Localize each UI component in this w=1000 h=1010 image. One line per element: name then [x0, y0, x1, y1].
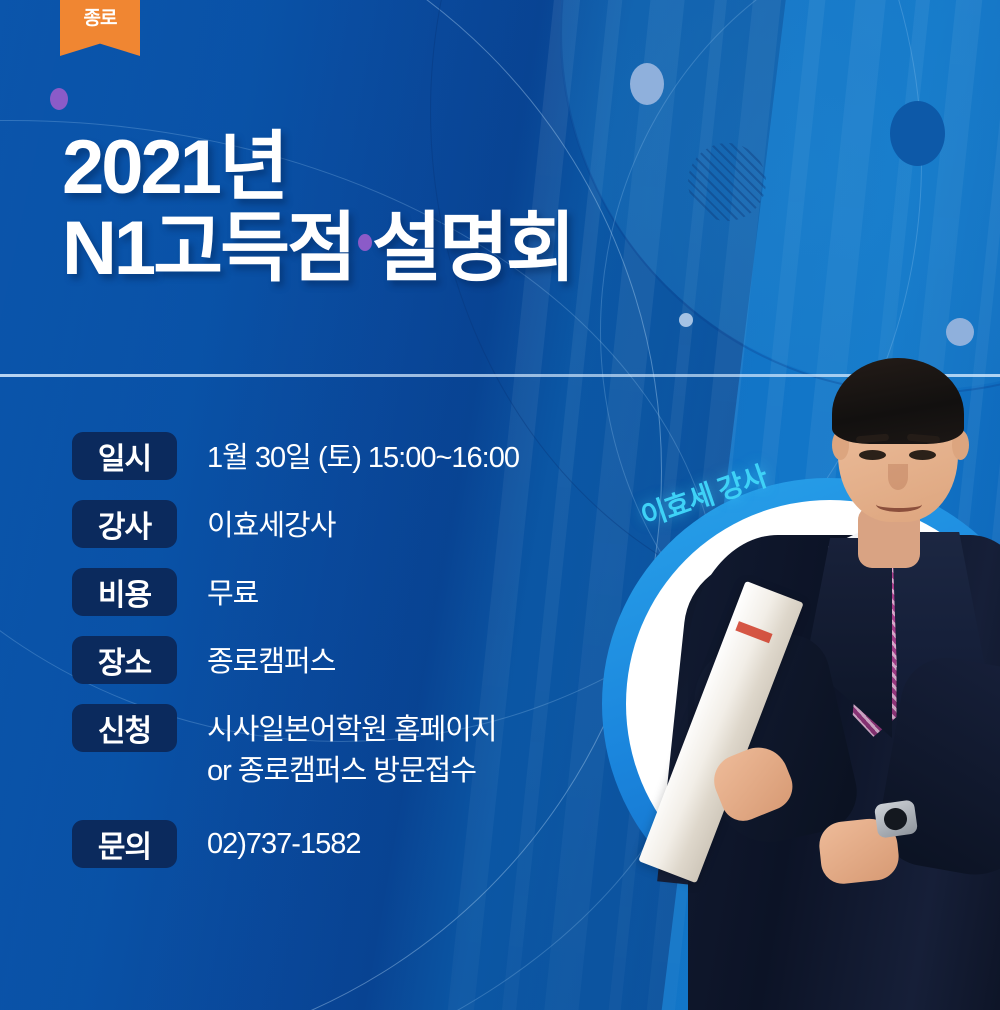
info-value-location: 종로캠퍼스 [207, 636, 335, 683]
info-label-contact: 문의 [72, 820, 177, 868]
info-label-apply: 신청 [72, 704, 177, 752]
info-label-instructor: 강사 [72, 500, 177, 548]
info-label-fee: 비용 [72, 568, 177, 616]
info-value-apply: 시사일본어학원 홈페이지 or 종로캠퍼스 방문접수 [207, 704, 497, 792]
light-dot-upper [630, 63, 664, 105]
info-row-location: 장소 종로캠퍼스 [72, 636, 632, 684]
instructor-photo [680, 310, 1000, 1010]
info-row-contact: 문의 02)737-1582 [72, 818, 632, 868]
campus-ribbon-label: 종로 [84, 9, 117, 28]
info-value-fee: 무료 [207, 568, 258, 615]
info-row-instructor: 강사 이효세강사 [72, 500, 632, 548]
promo-poster: 종로 2021년 N1고득점 설명회 [0, 0, 1000, 1010]
striped-circle-decor [688, 143, 766, 221]
info-value-datetime: 1월 30일 (토) 15:00~16:00 [207, 432, 519, 479]
purple-dot-left [50, 88, 68, 110]
wristwatch [874, 799, 918, 838]
info-value-instructor: 이효세강사 [207, 500, 335, 547]
info-label-location: 장소 [72, 636, 177, 684]
nose [888, 464, 908, 490]
event-info-list: 일시 1월 30일 (토) 15:00~16:00 강사 이효세강사 비용 무료… [72, 432, 632, 888]
info-row-datetime: 일시 1월 30일 (토) 15:00~16:00 [72, 432, 632, 480]
info-row-apply: 신청 시사일본어학원 홈페이지 or 종로캠퍼스 방문접수 [72, 704, 632, 792]
eye-right [909, 450, 936, 460]
info-label-datetime: 일시 [72, 432, 177, 480]
page-title: 2021년 N1고득점 설명회 [62, 128, 573, 289]
navy-circle-right [890, 101, 945, 166]
eye-left [859, 450, 886, 460]
info-row-fee: 비용 무료 [72, 568, 632, 616]
mouth [876, 497, 922, 512]
hair [832, 358, 964, 444]
info-value-contact: 02)737-1582 [207, 818, 360, 865]
